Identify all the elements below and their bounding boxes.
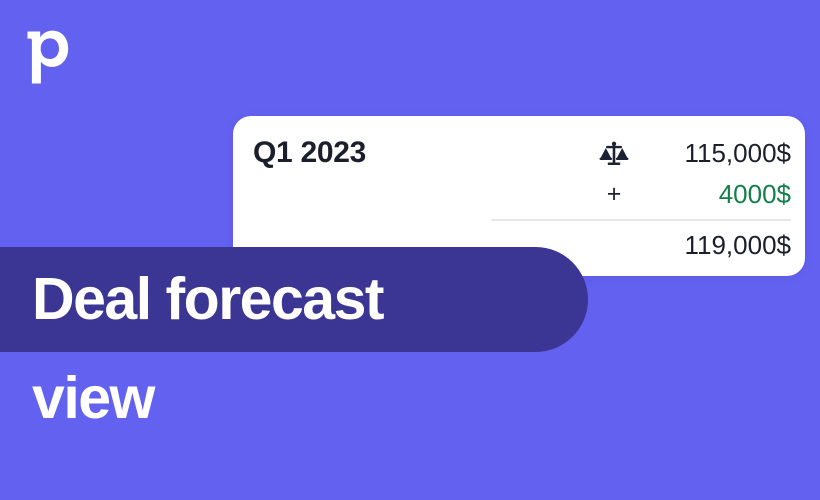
- amount-summary: 115,000$ + 4000$ 119,000$: [491, 133, 791, 265]
- promo-canvas: Q1 2023: [0, 0, 820, 500]
- card-period-label: Q1 2023: [253, 136, 366, 170]
- headline-banner: Deal forecast: [0, 247, 588, 352]
- amount-value: 115,000$: [641, 138, 791, 169]
- amount-divider: [491, 219, 791, 221]
- amount-row: 115,000$: [491, 133, 791, 174]
- plus-sign-label: +: [607, 182, 622, 207]
- amount-total-value: 119,000$: [641, 230, 791, 261]
- balance-scale-icon: [597, 141, 631, 167]
- pipedrive-p-logo-icon: [24, 28, 70, 86]
- headline-line-2: view: [32, 369, 154, 428]
- amount-value-positive: 4000$: [641, 179, 791, 210]
- plus-sign-icon: +: [597, 182, 631, 207]
- amount-row: + 4000$: [491, 174, 791, 215]
- headline-line-1: Deal forecast: [32, 270, 383, 329]
